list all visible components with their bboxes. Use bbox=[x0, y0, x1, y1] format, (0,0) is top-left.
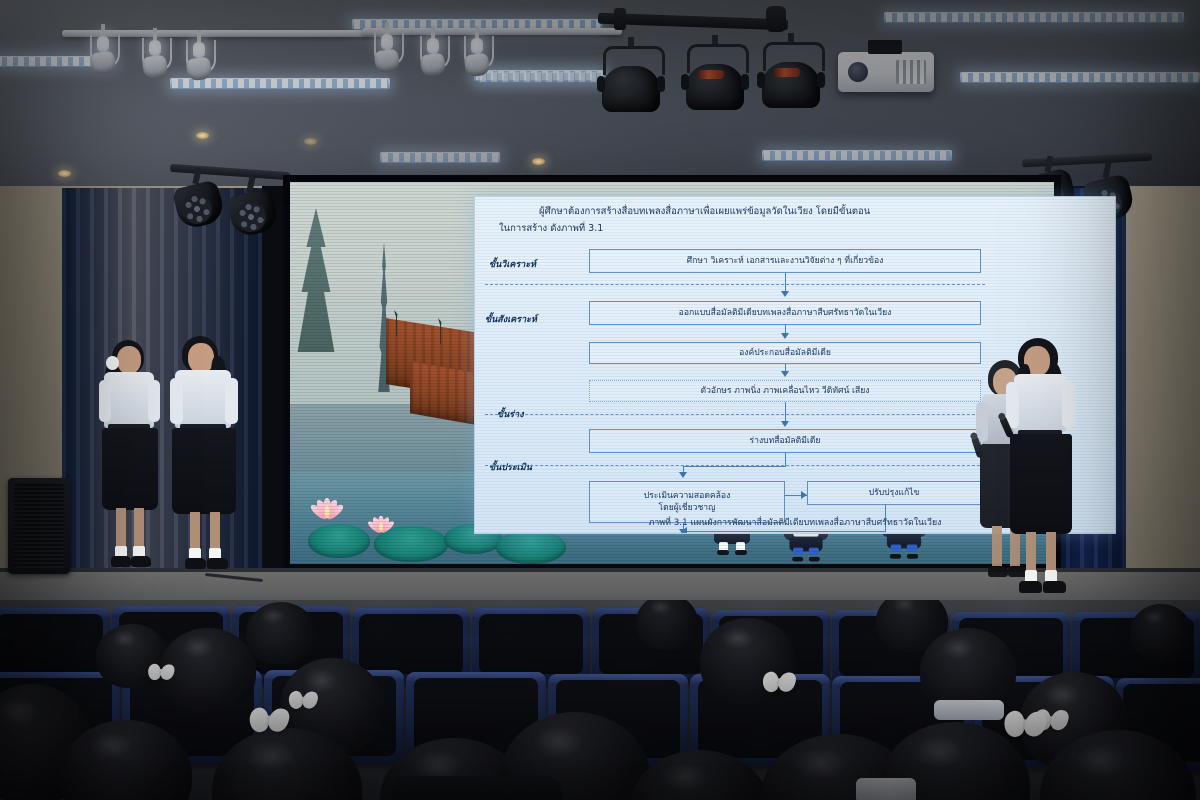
flow-arrow-down bbox=[781, 371, 789, 377]
flow-arrow-down bbox=[781, 421, 789, 427]
audience-head bbox=[246, 602, 316, 664]
projector-lens-icon bbox=[848, 62, 868, 82]
ceiling-projector bbox=[838, 52, 934, 92]
slide-heading-line-1: ผู้ศึกษาต้องการสร้างสื่อบทเพลงสื่อภาษาเพ… bbox=[499, 204, 1097, 221]
auditorium-photo: ผู้ศึกษาต้องการสร้างสื่อบทเพลงสื่อภาษาเพ… bbox=[0, 0, 1200, 800]
presenter-right-front bbox=[1004, 338, 1080, 606]
track-spotlight bbox=[418, 34, 448, 80]
flow-box-revise: ปรับปรุงแก้ไข bbox=[807, 481, 981, 505]
flow-connector bbox=[785, 273, 786, 293]
screen-lotus-flower bbox=[310, 494, 344, 520]
recessed-downlight bbox=[532, 158, 545, 165]
screen-lotus-flower bbox=[367, 513, 394, 534]
hair-ribbon bbox=[250, 708, 289, 732]
stage-divider bbox=[485, 414, 985, 415]
flow-box-elements: องค์ประกอบสื่อมัลติมีเดีย bbox=[589, 342, 981, 364]
presenter-left-2 bbox=[168, 336, 242, 592]
audience-shoulders bbox=[392, 776, 562, 800]
flow-box-draft: ร่างบทสื่อมัลติมีเดีย bbox=[589, 429, 981, 453]
lighting-track-rail bbox=[362, 28, 622, 35]
led-strip-light bbox=[380, 152, 500, 163]
track-spotlight bbox=[372, 30, 402, 76]
flow-arrow-down bbox=[781, 333, 789, 339]
led-strip-light bbox=[352, 19, 602, 30]
auditorium-seat bbox=[472, 608, 590, 682]
stage-label-evaluate: ขั้นประเมิน bbox=[489, 460, 532, 474]
led-strip-light bbox=[762, 150, 952, 161]
auditorium-seat bbox=[0, 608, 110, 682]
track-spotlight bbox=[140, 36, 170, 82]
stage-spotlight bbox=[684, 44, 746, 110]
audience-collar bbox=[856, 778, 916, 800]
recessed-downlight bbox=[304, 138, 317, 145]
led-strip-light bbox=[474, 70, 604, 81]
led-strip-light bbox=[478, 72, 604, 83]
flow-box-components: ตัวอักษร ภาพนิ่ง ภาพเคลื่อนไหว วีดิทัศน์… bbox=[589, 380, 981, 402]
flow-arrow-down bbox=[781, 291, 789, 297]
lighting-track-rail bbox=[62, 30, 392, 37]
led-par-light bbox=[176, 178, 222, 230]
flow-connector bbox=[683, 466, 786, 467]
ceiling bbox=[0, 0, 1200, 186]
hair-ribbon bbox=[148, 664, 174, 680]
stage-label-analyze: ขั้นวิเคราะห์ bbox=[489, 257, 536, 271]
audience-collar bbox=[934, 700, 1004, 720]
audience-area bbox=[0, 600, 1200, 800]
hair-ribbon bbox=[1004, 711, 1046, 737]
stage-label-synthesize: ขั้นสังเคราะห์ bbox=[485, 312, 537, 326]
slide-heading: ผู้ศึกษาต้องการสร้างสื่อบทเพลงสื่อภาษาเพ… bbox=[499, 204, 1097, 237]
stage-spotlight bbox=[600, 46, 662, 112]
lighting-truss bbox=[598, 13, 788, 31]
recessed-downlight bbox=[58, 170, 71, 177]
slide-heading-line-2: ในการสร้าง ดังภาพที่ 3.1 bbox=[499, 221, 1097, 238]
track-spotlight bbox=[184, 38, 214, 84]
hair-ribbon bbox=[763, 672, 796, 692]
projector-vents bbox=[896, 60, 926, 84]
track-spotlight bbox=[88, 32, 118, 78]
stage-spotlight bbox=[760, 42, 822, 108]
led-strip-light bbox=[884, 12, 1184, 23]
stage-speaker-monitor bbox=[8, 478, 70, 574]
flow-box-evaluate-line1: ประเมินความสอดคล้อง bbox=[644, 490, 731, 502]
led-strip-light bbox=[960, 72, 1200, 83]
flow-arrow-down bbox=[679, 529, 687, 534]
audience-head bbox=[636, 600, 698, 650]
projector-mount bbox=[868, 40, 902, 54]
flow-box-evaluate-line2: โดยผู้เชี่ยวชาญ bbox=[659, 502, 716, 514]
flow-box-design: ออกแบบสื่อมัลติมีเดียบทเพลงสื่อภาษาสืบศร… bbox=[589, 301, 981, 325]
presenter-left-1 bbox=[96, 340, 166, 590]
truss-drop bbox=[614, 8, 626, 30]
led-par-light bbox=[230, 186, 276, 238]
flow-connector bbox=[785, 453, 786, 467]
recessed-downlight bbox=[196, 132, 209, 139]
stage-divider bbox=[485, 284, 985, 285]
truss-drop bbox=[766, 6, 786, 32]
audience-head bbox=[1130, 604, 1192, 660]
track-spotlight bbox=[462, 34, 492, 80]
flow-connector bbox=[685, 531, 886, 532]
led-strip-light bbox=[170, 78, 390, 89]
side-wall-right bbox=[1116, 186, 1200, 606]
screen-lilypad bbox=[308, 524, 370, 558]
led-strip-light bbox=[0, 56, 114, 67]
flow-box-analyze: ศึกษา วิเคราะห์ เอกสารและงานวิจัยต่าง ๆ … bbox=[589, 249, 981, 273]
flow-arrow-down bbox=[679, 472, 687, 478]
hair-ribbon bbox=[289, 691, 318, 709]
screen-lilypad bbox=[496, 530, 566, 564]
